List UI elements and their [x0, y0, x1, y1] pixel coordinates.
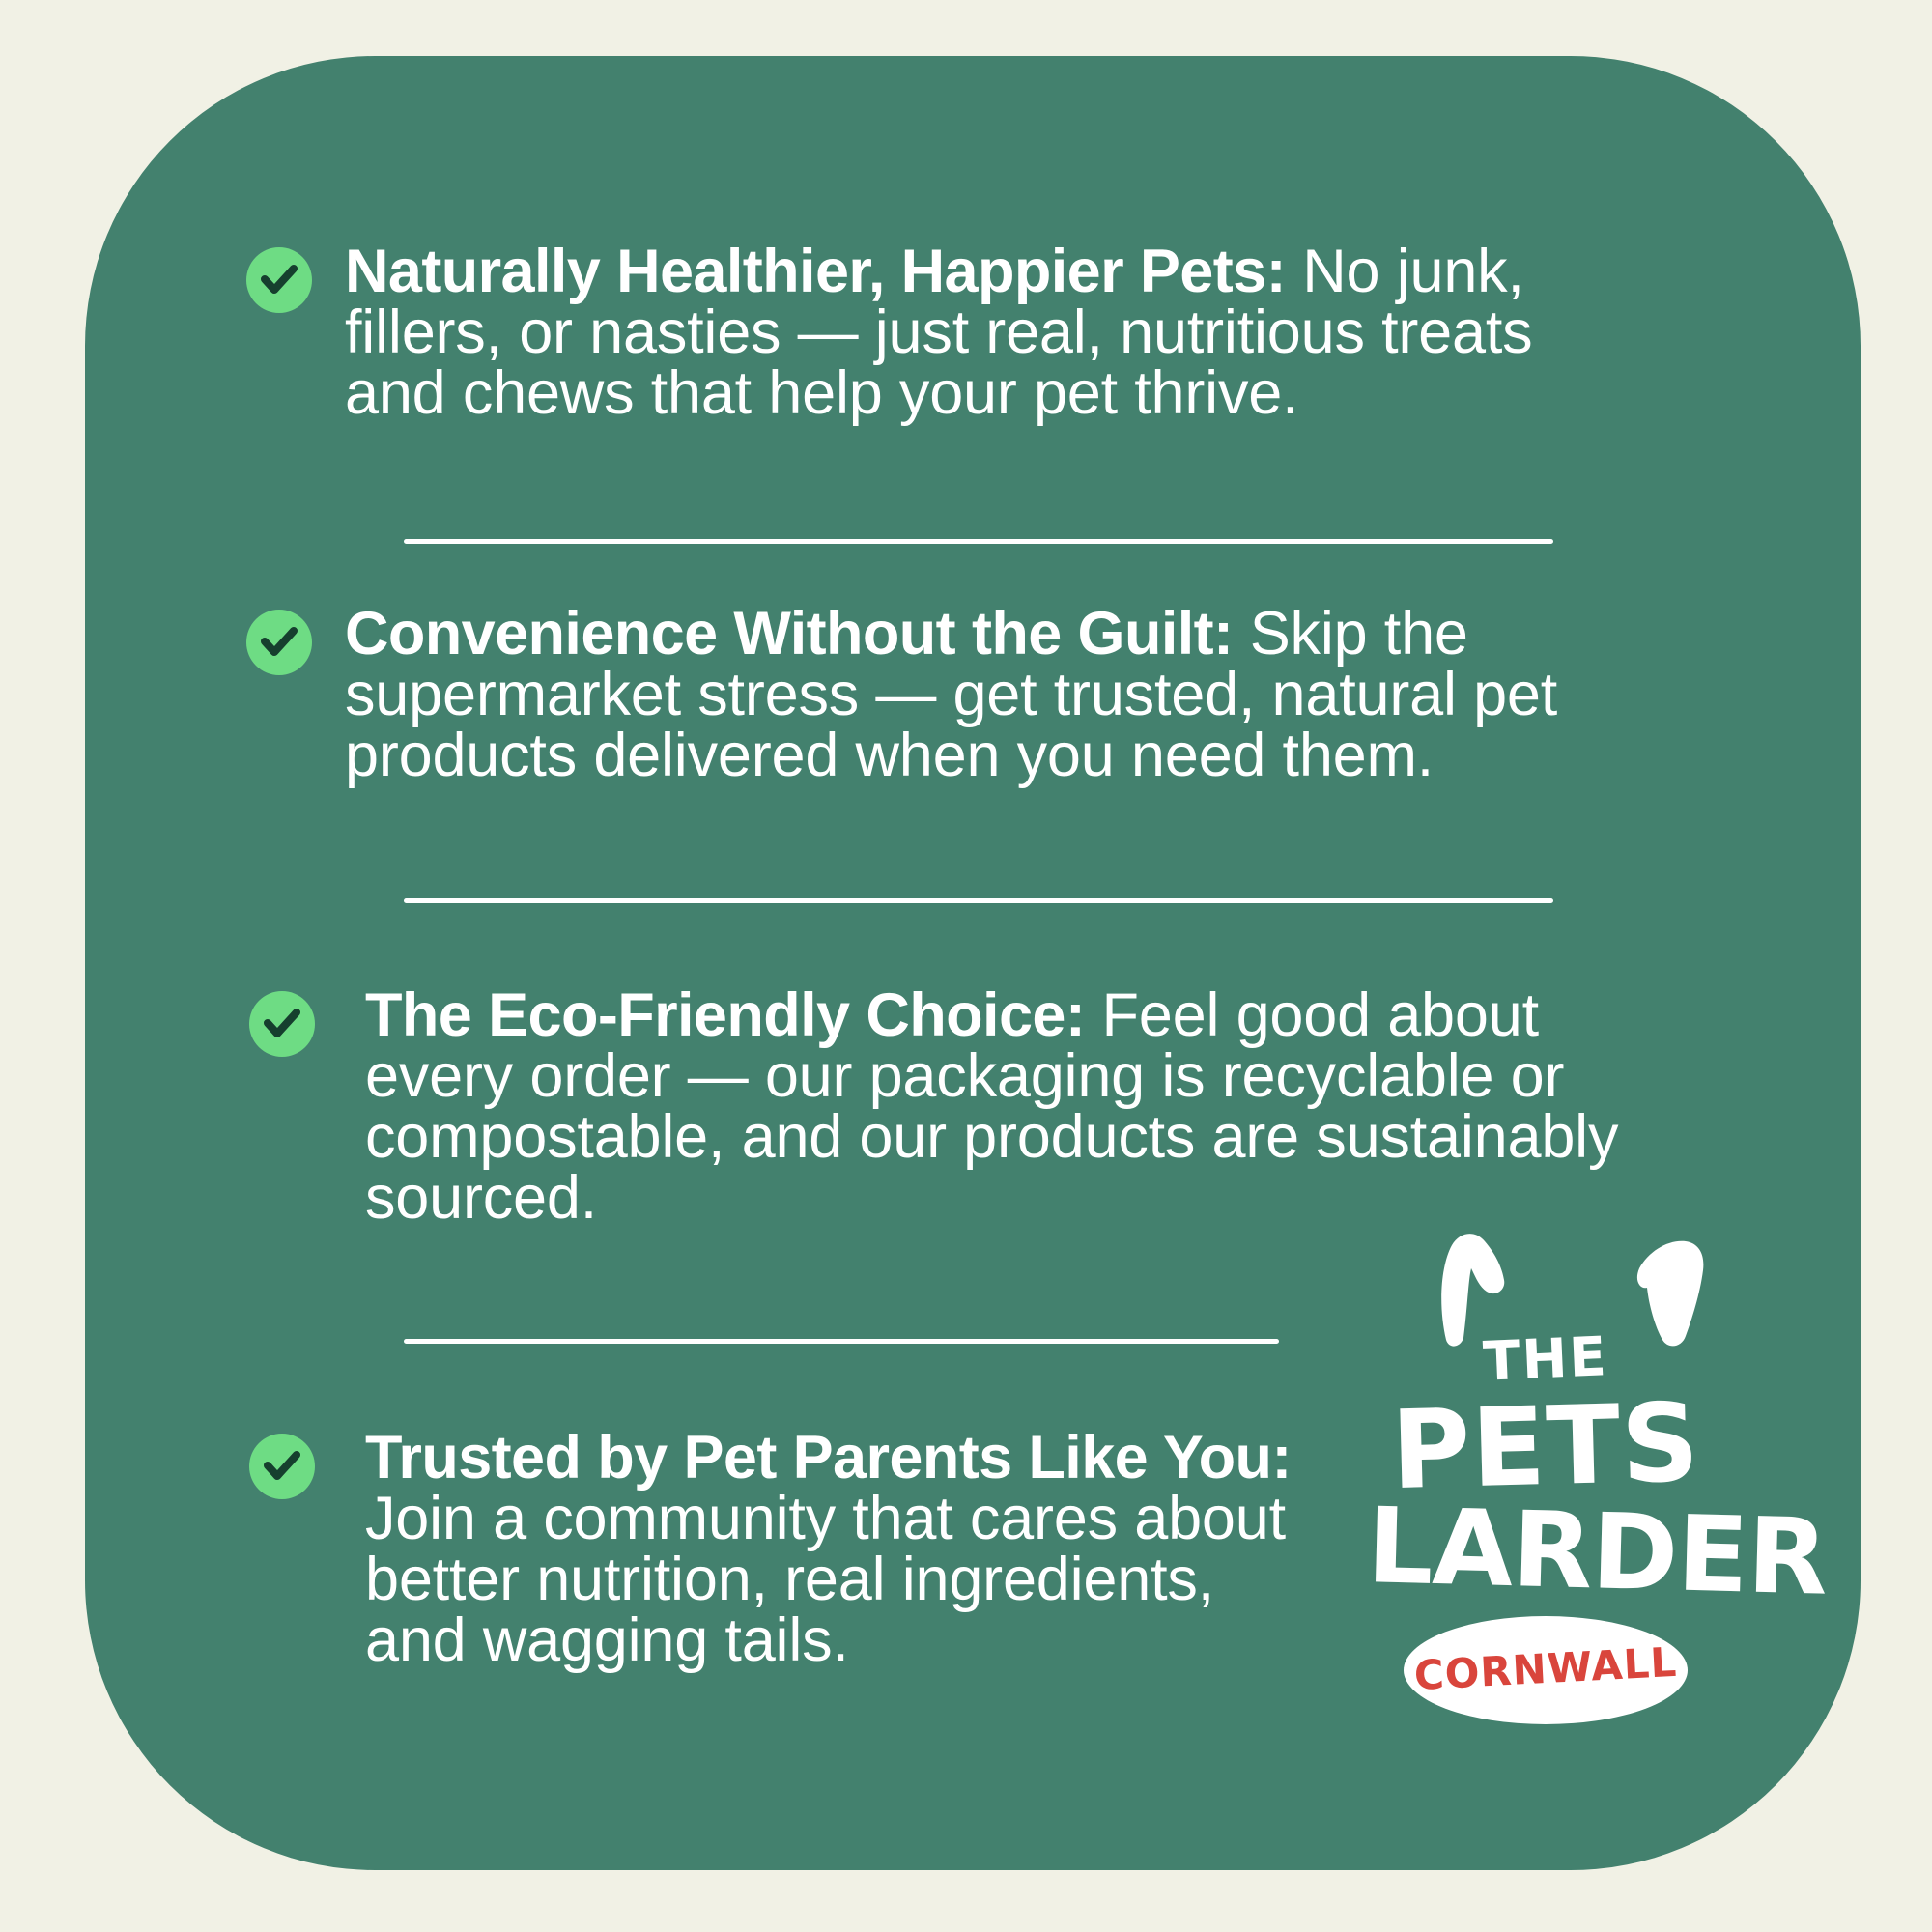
divider-1 — [404, 539, 1553, 544]
brand-logo: THE PETS LARDER CORNWALL — [1367, 1212, 1724, 1753]
check-circle-icon — [249, 1434, 315, 1499]
poster-canvas: Naturally Healthier, Happier Pets: No ju… — [0, 0, 1932, 1932]
benefit-text-4: Trusted by Pet Parents Like You: Join a … — [365, 1428, 1293, 1671]
benefit-text-2: Convenience Without the Guilt: Skip the … — [345, 604, 1599, 786]
check-circle-icon — [246, 610, 312, 675]
benefit-heading-1: Naturally Healthier, Happier Pets: — [345, 238, 1286, 305]
benefit-item-4: Trusted by Pet Parents Like You: Join a … — [249, 1428, 1312, 1671]
benefit-heading-2: Convenience Without the Guilt: — [345, 600, 1233, 668]
check-glyph-icon — [261, 264, 298, 297]
benefit-item-1: Naturally Healthier, Happier Pets: No ju… — [246, 241, 1599, 424]
check-glyph-icon — [264, 1450, 300, 1483]
benefit-heading-4: Trusted by Pet Parents Like You: — [365, 1424, 1292, 1492]
benefit-item-3: The Eco-Friendly Choice: Feel good about… — [249, 985, 1621, 1229]
divider-2 — [404, 898, 1553, 903]
benefit-body-4: Join a community that cares about better… — [365, 1485, 1286, 1674]
logo-line-larder: LARDER — [1365, 1486, 1725, 1616]
check-circle-icon — [249, 991, 315, 1057]
check-circle-icon — [246, 247, 312, 313]
benefit-text-1: Naturally Healthier, Happier Pets: No ju… — [345, 241, 1599, 424]
benefit-text-3: The Eco-Friendly Choice: Feel good about… — [365, 985, 1621, 1229]
benefit-heading-3: The Eco-Friendly Choice: — [365, 981, 1085, 1049]
benefit-item-2: Convenience Without the Guilt: Skip the … — [246, 604, 1599, 786]
cornwall-badge: CORNWALL — [1404, 1616, 1688, 1724]
cornwall-label: CORNWALL — [1403, 1637, 1689, 1699]
divider-3 — [404, 1339, 1279, 1344]
check-glyph-icon — [264, 1008, 300, 1040]
check-glyph-icon — [261, 626, 298, 659]
benefits-list: Naturally Healthier, Happier Pets: No ju… — [0, 0, 1932, 1932]
